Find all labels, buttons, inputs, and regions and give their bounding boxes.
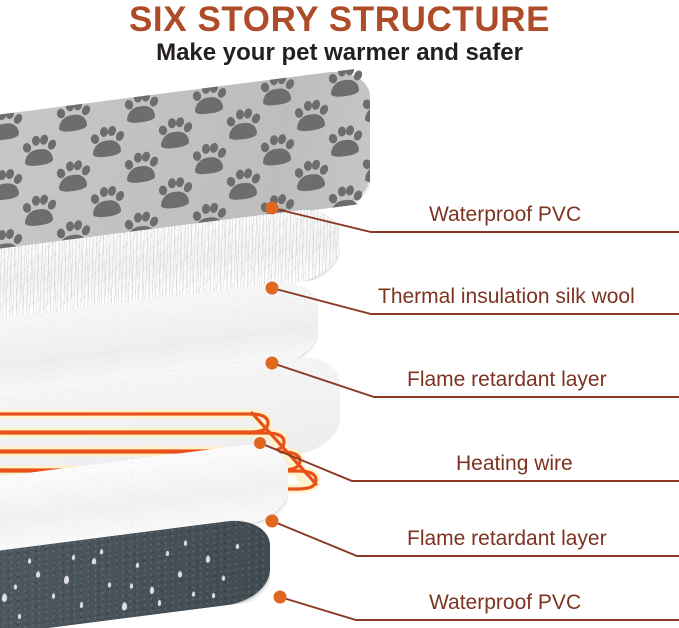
water-droplet [72, 555, 75, 560]
paw-print-icon [362, 90, 370, 124]
paw-print-icon [22, 193, 56, 227]
paw-print-icon [260, 73, 294, 107]
water-droplet [92, 558, 96, 565]
water-droplet [166, 551, 169, 556]
water-droplet [28, 558, 31, 563]
water-droplet [130, 583, 133, 588]
paw-print-icon [56, 159, 90, 193]
paw-print-icon [124, 150, 158, 184]
paw-print-icon [56, 99, 90, 133]
paw-print-icon [328, 67, 362, 98]
water-droplet [100, 549, 103, 554]
paw-print-icon [90, 184, 124, 218]
water-droplet [64, 575, 69, 584]
water-droplet [222, 575, 225, 580]
water-droplet [136, 563, 139, 568]
water-droplet [14, 584, 17, 589]
water-droplet [206, 555, 210, 563]
paw-print-icon [362, 150, 370, 184]
water-droplet [36, 571, 40, 578]
water-droplet [212, 593, 215, 598]
paw-print-icon [328, 124, 362, 158]
paw-print-icon [294, 158, 328, 192]
paw-print-icon [294, 98, 328, 132]
paw-print-icon [192, 81, 226, 115]
water-droplet [122, 602, 127, 611]
paw-print-icon [124, 90, 158, 124]
infographic-root: SIX STORY STRUCTURE Make your pet warmer… [0, 0, 679, 628]
water-droplet [80, 602, 83, 608]
water-droplet [158, 600, 161, 606]
water-droplet [192, 591, 195, 596]
water-droplet [18, 614, 21, 619]
paw-print-icon [226, 167, 260, 201]
paw-print-icon [90, 124, 124, 158]
paw-print-icon [192, 141, 226, 175]
water-droplet [108, 582, 111, 587]
water-droplet [184, 540, 187, 545]
paw-print-icon [226, 107, 260, 141]
layer-stack-illustration [0, 0, 679, 628]
water-droplet [52, 593, 55, 598]
paw-print-icon [0, 167, 22, 201]
paw-print-icon [158, 176, 192, 210]
water-droplet [150, 587, 154, 595]
water-droplet [2, 593, 7, 602]
water-droplet [236, 544, 239, 549]
water-droplet [178, 571, 182, 578]
paw-print-icon [260, 133, 294, 167]
paw-print-icon [0, 107, 22, 141]
paw-print-icon [22, 133, 56, 167]
paw-print-icon [158, 116, 192, 150]
